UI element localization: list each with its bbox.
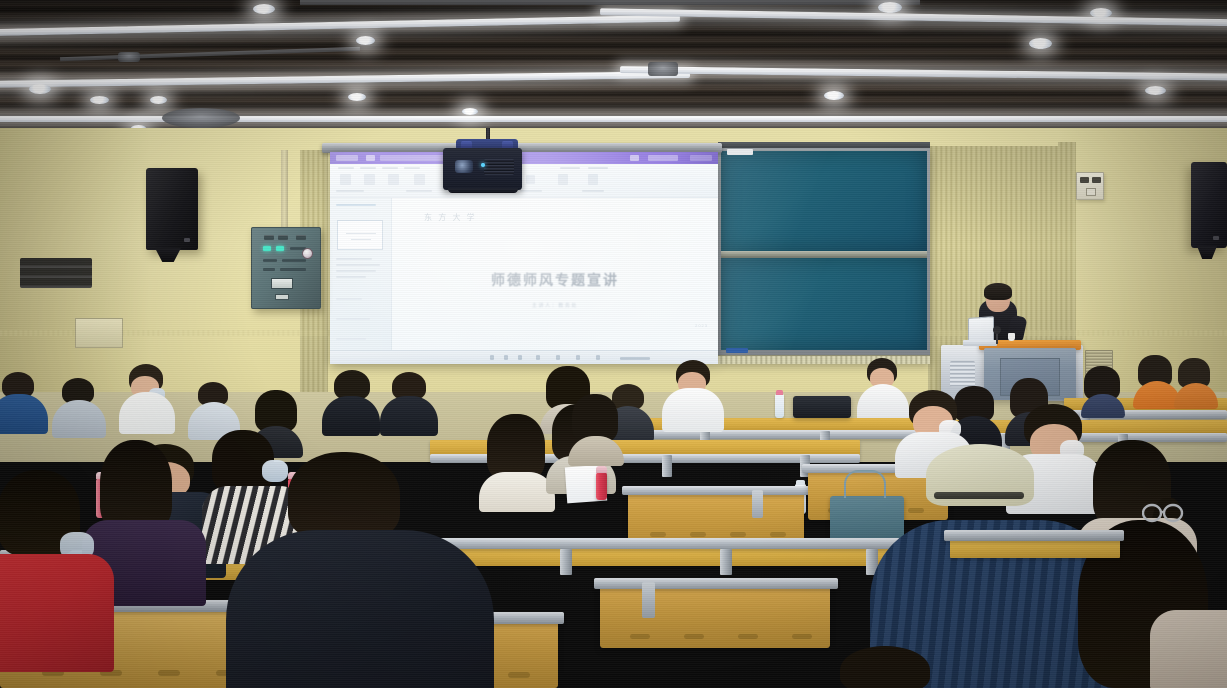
speaker-badge: [1213, 236, 1219, 240]
ceiling-downlight: [29, 84, 51, 94]
blackboard-panel-lower: [721, 258, 927, 350]
seat-armrest: [642, 582, 655, 618]
ceiling-downlight: [150, 96, 167, 104]
av-control-panel[interactable]: [251, 227, 321, 309]
bottle-cap: [796, 480, 805, 485]
outlet-switch[interactable]: [1086, 188, 1096, 196]
desk-rail: [944, 530, 1124, 541]
power-outlet-plate: [1076, 172, 1104, 200]
blackboard-middle-rail: [721, 251, 927, 258]
seat-slot: [738, 634, 758, 639]
ceiling-downlight: [1029, 38, 1052, 49]
ceiling-downlight: [1145, 86, 1166, 95]
ceiling-fixture: [118, 52, 140, 62]
projection-screen: 东 方 大 学 师德师风专题宣讲 主讲人：教务处 2023: [330, 152, 718, 364]
seat-slot: [730, 532, 746, 537]
projector-status-led: [481, 163, 485, 167]
bottle-cap: [776, 390, 783, 395]
presenter-hair: [984, 283, 1012, 300]
panel-button[interactable]: [264, 235, 274, 240]
seat-slot: [684, 634, 704, 639]
ceiling-fixture: [648, 62, 678, 76]
microphone-icon: [993, 326, 1001, 334]
seat-back: [600, 586, 830, 648]
panel-small-button[interactable]: [275, 294, 289, 300]
eyeglasses-icon: [1142, 500, 1184, 526]
rail-post: [560, 549, 572, 575]
ceiling-downlight: [356, 36, 375, 45]
ceiling-vent: [162, 108, 240, 128]
desk-surface: [950, 540, 1120, 558]
panel-label: [282, 259, 306, 262]
panel-label: [280, 268, 306, 271]
panel-button[interactable]: [296, 235, 306, 240]
panel-rotary-knob[interactable]: [302, 248, 313, 259]
projector-lens-icon: [455, 160, 473, 173]
seat-slot: [630, 634, 650, 639]
face-mask: [262, 460, 288, 482]
seat-top-rail: [622, 486, 812, 495]
projector-base: [448, 188, 518, 193]
ceiling-downlight: [824, 91, 844, 100]
handbag-handle: [844, 470, 886, 498]
laptop-base: [963, 340, 997, 346]
conduit-pipe: [281, 150, 288, 230]
ceiling-downlight: [348, 93, 366, 101]
desk-surface: [420, 548, 890, 566]
projector-vent: [484, 159, 514, 175]
water-bottle: [775, 394, 784, 418]
ceiling-downlight: [878, 2, 902, 13]
speaker-badge: [184, 238, 190, 242]
panel-indicator-led: [276, 246, 284, 251]
seat-slot: [690, 532, 706, 537]
panel-indicator-led: [263, 246, 271, 251]
panel-button[interactable]: [278, 235, 288, 240]
thermos-bottle: [596, 472, 607, 500]
seat-slot: [650, 532, 666, 537]
seat-back: [628, 492, 804, 544]
blackboard-panel-upper: [721, 151, 927, 251]
lecture-hall-photo: 东 方 大 学 师德师风专题宣讲 主讲人：教务处 2023: [0, 0, 1227, 688]
seat-slot: [792, 634, 812, 639]
backpack: [793, 396, 851, 418]
panel-label: [263, 259, 277, 262]
wall-speaker-right: [1191, 162, 1227, 248]
seat-slot: [158, 670, 180, 676]
ceiling-downlight: [1090, 8, 1112, 18]
cap-brim: [934, 492, 1024, 499]
seat-slot: [770, 532, 786, 537]
desk-rail: [414, 538, 900, 549]
blackboard-magnet: [726, 348, 748, 353]
outlet-socket: [1092, 177, 1101, 183]
seat-slot: [508, 672, 530, 678]
rail-post: [662, 455, 672, 477]
blackboard: [718, 148, 930, 363]
ceiling-beam: [300, 0, 920, 5]
ceiling-downlight: [462, 108, 478, 115]
wall-speaker-left: [146, 168, 198, 250]
panel-label: [263, 268, 275, 271]
wall-access-box: [75, 318, 123, 348]
thermos-lid: [596, 466, 607, 473]
seat-armrest: [752, 490, 763, 518]
water-cup: [1008, 333, 1015, 341]
wall-dark-panel: [20, 258, 92, 288]
podium-vent: [950, 361, 975, 387]
ceiling-downlight: [90, 96, 109, 104]
seat-slot: [908, 508, 924, 513]
rail-post: [720, 549, 732, 575]
ceiling: [0, 0, 1227, 140]
ceiling-projector: [443, 148, 522, 190]
seat-top-rail: [594, 578, 838, 589]
blackboard-clip: [727, 149, 753, 155]
ceiling-downlight: [253, 4, 275, 14]
blackboard-chalk-tray: [718, 355, 930, 364]
outlet-socket: [1080, 177, 1089, 183]
panel-display: [271, 278, 293, 289]
